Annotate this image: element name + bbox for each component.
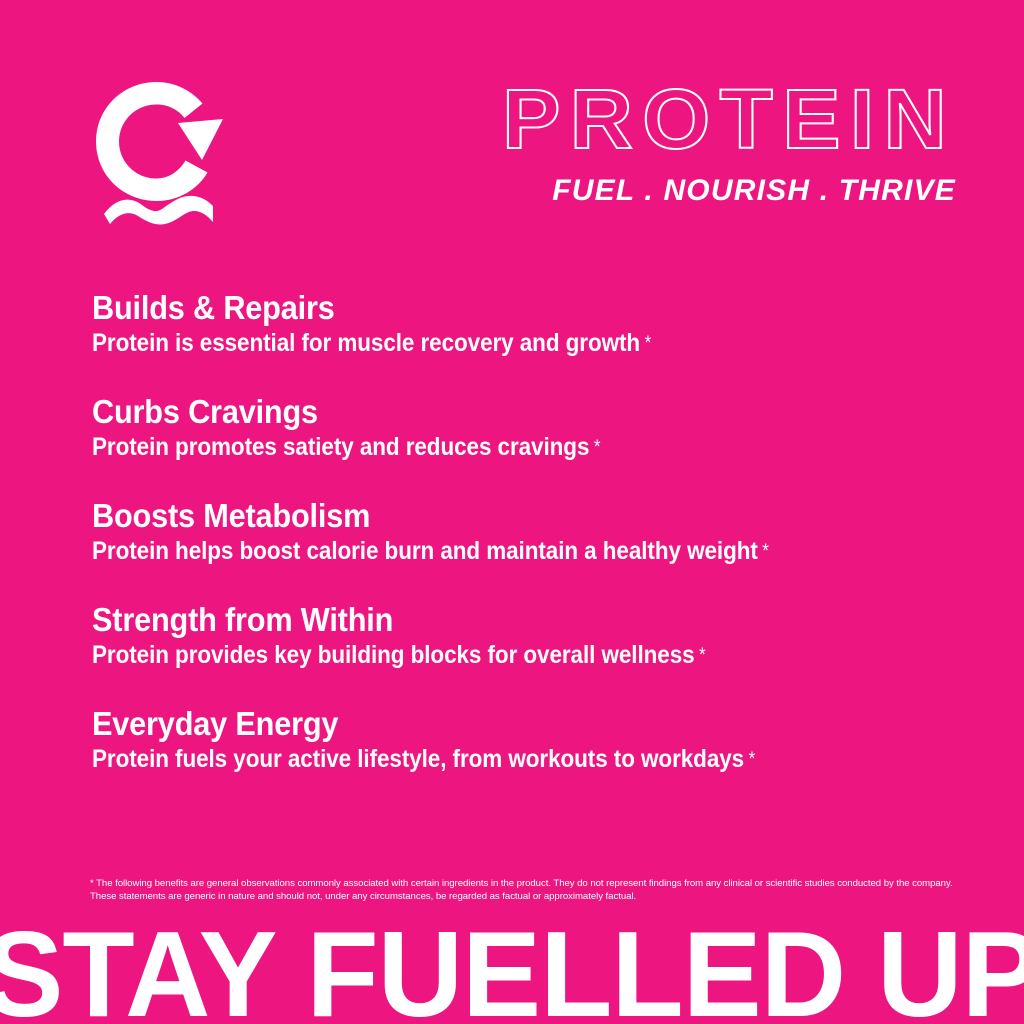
footnote-marker: * xyxy=(749,749,756,770)
benefit-description-text: Protein is essential for muscle recovery… xyxy=(92,329,640,357)
benefit-item: Builds & Repairs Protein is essential fo… xyxy=(92,291,972,357)
benefit-description-text: Protein fuels your active lifestyle, fro… xyxy=(92,745,744,773)
benefit-heading: Builds & Repairs xyxy=(92,291,910,326)
benefits-list: Builds & Repairs Protein is essential fo… xyxy=(92,291,972,773)
benefit-heading: Boosts Metabolism xyxy=(92,499,910,534)
benefit-heading: Everyday Energy xyxy=(92,707,910,742)
benefit-description: Protein helps boost calorie burn and mai… xyxy=(92,537,884,565)
tagline: FUEL . NOURISH . THRIVE xyxy=(396,174,956,208)
footer-banner: STAY FUELLED UP xyxy=(0,925,1024,1024)
poster-header: PROTEIN FUEL . NOURISH . THRIVE xyxy=(0,0,1024,250)
benefit-description: Protein fuels your active lifestyle, fro… xyxy=(92,745,884,773)
brand-logo xyxy=(92,78,234,226)
benefit-description-text: Protein helps boost calorie burn and mai… xyxy=(92,537,758,565)
benefit-item: Boosts Metabolism Protein helps boost ca… xyxy=(92,499,972,565)
benefit-heading: Curbs Cravings xyxy=(92,395,910,430)
disclaimer-line-2: These statements are generic in nature a… xyxy=(90,890,970,903)
footnote-marker: * xyxy=(594,437,601,458)
footer-headline: STAY FUELLED UP xyxy=(0,925,1024,1024)
benefit-item: Everyday Energy Protein fuels your activ… xyxy=(92,707,972,773)
benefit-description: Protein promotes satiety and reduces cra… xyxy=(92,433,884,461)
footnote-marker: * xyxy=(645,333,652,354)
benefit-item: Strength from Within Protein provides ke… xyxy=(92,603,972,669)
benefit-description-text: Protein provides key building blocks for… xyxy=(92,641,695,669)
footnote-marker: * xyxy=(699,645,706,666)
footnote-marker: * xyxy=(762,541,769,562)
benefit-description: Protein is essential for muscle recovery… xyxy=(92,329,884,357)
benefit-description-text: Protein promotes satiety and reduces cra… xyxy=(92,433,589,461)
benefit-description: Protein provides key building blocks for… xyxy=(92,641,884,669)
title-block: PROTEIN FUEL . NOURISH . THRIVE xyxy=(396,78,956,208)
benefit-item: Curbs Cravings Protein promotes satiety … xyxy=(92,395,972,461)
disclaimer-line-1: * The following benefits are general obs… xyxy=(90,877,970,890)
page-title: PROTEIN xyxy=(374,78,956,160)
benefit-heading: Strength from Within xyxy=(92,603,910,638)
disclaimer: * The following benefits are general obs… xyxy=(90,877,970,903)
protein-promo-poster: PROTEIN FUEL . NOURISH . THRIVE Builds &… xyxy=(0,0,1024,1024)
